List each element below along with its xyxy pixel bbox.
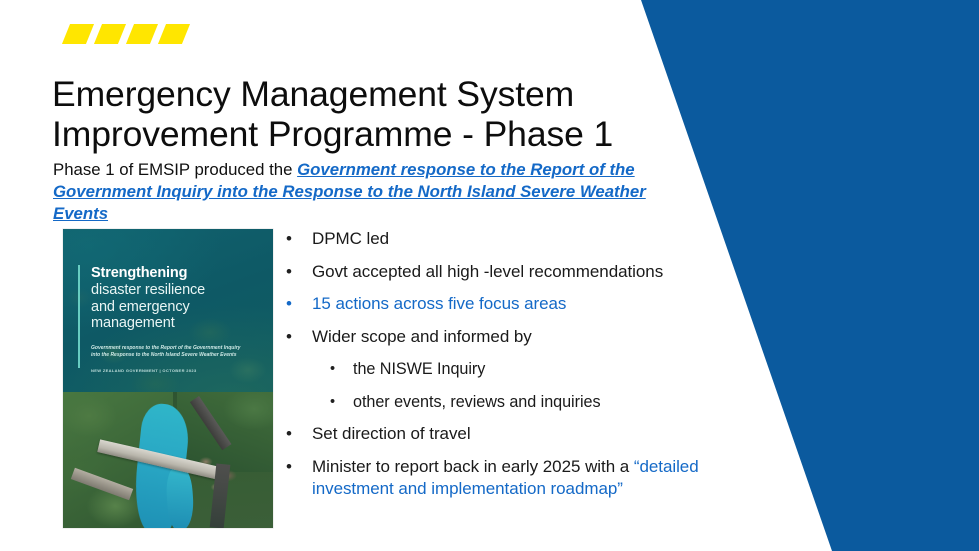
bullet-text: Set direction of travel: [312, 423, 471, 445]
bullet-text: the NISWE Inquiry: [353, 358, 485, 380]
bullet-item: •15 actions across five focus areas: [286, 293, 766, 315]
cover-photo-bridge: [63, 392, 273, 528]
bullet-item: •Set direction of travel: [286, 423, 766, 445]
intro-prefix-text: Phase 1 of EMSIP produced the: [53, 160, 297, 179]
bullet-text: Wider scope and informed by: [312, 326, 532, 348]
chevron-icon: [126, 24, 158, 44]
cover-title-rest: disaster resilience and emergency manage…: [91, 282, 259, 332]
intro-paragraph: Phase 1 of EMSIP produced the Government…: [53, 159, 653, 226]
bullet-item: •other events, reviews and inquiries: [286, 391, 766, 413]
cover-title-line-2: disaster resilience: [91, 282, 259, 299]
bullet-marker: •: [286, 261, 312, 283]
bullet-text: Govt accepted all high -level recommenda…: [312, 261, 663, 283]
bullet-text-plain: Minister to report back in early 2025 wi…: [312, 457, 634, 476]
bullet-marker: •: [286, 326, 312, 348]
bullet-text: 15 actions across five focus areas: [312, 293, 566, 315]
bullet-marker: •: [330, 358, 353, 380]
cover-text-block: Strengthening disaster resilience and em…: [91, 265, 259, 373]
bullet-text: other events, reviews and inquiries: [353, 391, 601, 413]
slide-title-line-2: Improvement Programme - Phase 1: [52, 114, 613, 154]
bullet-item: •Wider scope and informed by: [286, 326, 766, 348]
cover-footer: NEW ZEALAND GOVERNMENT | OCTOBER 2023: [91, 368, 259, 373]
cover-title-line-4: management: [91, 315, 259, 332]
bullet-marker: •: [286, 228, 312, 250]
bullet-marker: •: [330, 391, 353, 413]
cover-title-line-3: and emergency: [91, 299, 259, 316]
cover-title-bold: Strengthening: [91, 265, 259, 282]
chevron-icon: [158, 24, 190, 44]
bullet-item: •DPMC led: [286, 228, 766, 250]
bullet-marker: •: [286, 456, 312, 478]
bullet-item: •Govt accepted all high -level recommend…: [286, 261, 766, 283]
report-cover-image[interactable]: Strengthening disaster resilience and em…: [63, 229, 273, 528]
slide-title: Emergency Management System Improvement …: [52, 74, 672, 154]
cover-accent-rule: [78, 265, 80, 368]
bullet-item: •Minister to report back in early 2025 w…: [286, 456, 766, 500]
cover-subtitle: Government response to the Report of the…: [91, 345, 241, 359]
slide-title-line-1: Emergency Management System: [52, 74, 574, 114]
bullet-marker: •: [286, 293, 312, 315]
bullet-list: •DPMC led•Govt accepted all high -level …: [286, 228, 766, 510]
chevron-accent-group: [66, 24, 192, 44]
slide-canvas: Emergency Management System Improvement …: [0, 0, 979, 551]
chevron-icon: [62, 24, 94, 44]
bullet-text: Minister to report back in early 2025 wi…: [312, 456, 766, 500]
bullet-item: •the NISWE Inquiry: [286, 358, 766, 380]
chevron-icon: [94, 24, 126, 44]
bullet-text: DPMC led: [312, 228, 389, 250]
bullet-marker: •: [286, 423, 312, 445]
